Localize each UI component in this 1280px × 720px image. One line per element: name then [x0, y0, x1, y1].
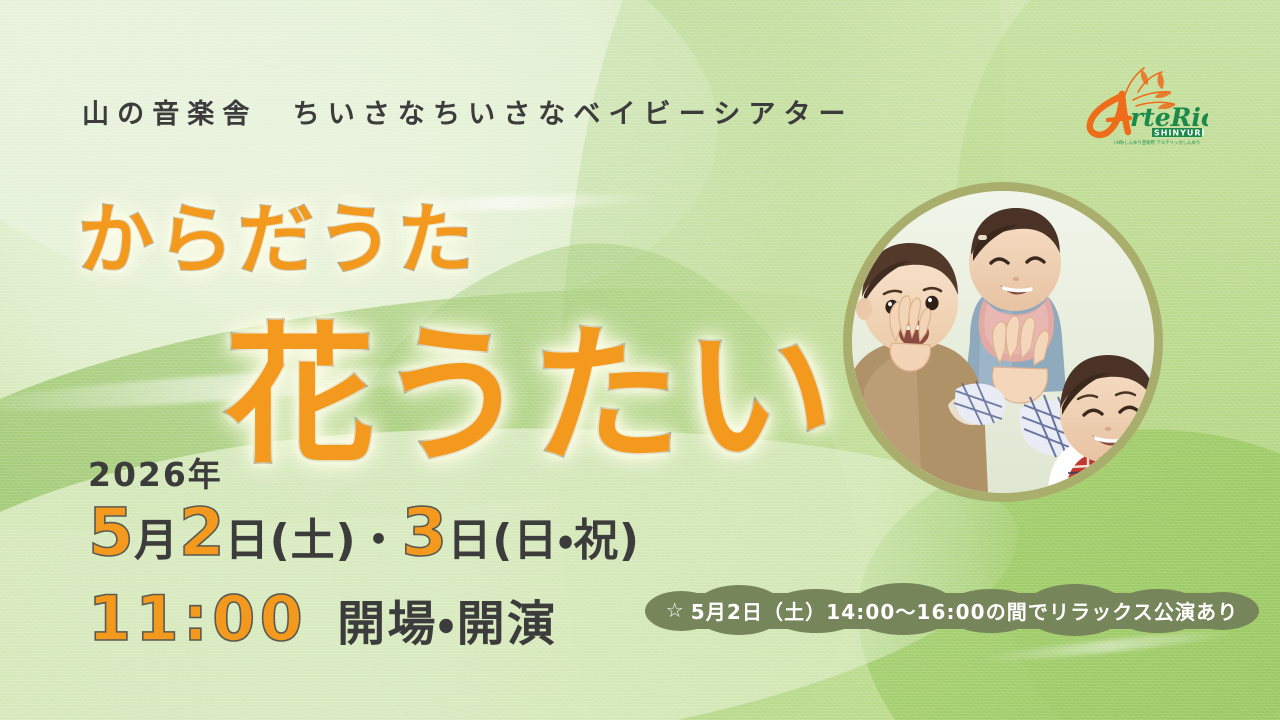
date-day2-number: 3 [401, 500, 447, 566]
date-line: 5 月 2 日(土) ・ 3 日(日・祝) [88, 500, 640, 566]
logo-subtitle: SHINYURI [1154, 129, 1206, 138]
event-series-heading: 山の音楽舎 ちいさなちいさなベイビーシアター [82, 92, 854, 131]
relax-note-body: 5月2日（土）14:00〜16:00の間でリラックス公演あり [691, 596, 1239, 625]
time-line: 11:00 開場・開演 [88, 588, 640, 650]
logo-fine-print: 川崎・しんゆり芸術祭 アルテリッカしんゆり [1114, 139, 1200, 146]
date-day1-label: 日(土) [225, 519, 357, 563]
time-label: 開場・開演 [337, 600, 557, 648]
date-month-number: 5 [88, 500, 134, 566]
schedule-block: 2026年 5 月 2 日(土) ・ 3 日(日・祝) 11:00 開場・開演 [88, 458, 640, 650]
baby-center [964, 208, 1066, 395]
relax-note-text: ☆ 5月2日（土）14:00〜16:00の間でリラックス公演あり [645, 583, 1259, 637]
babies-photo-circle [843, 182, 1163, 502]
star-icon: ☆ [666, 600, 685, 620]
arteRicca-logo[interactable]: rteRicca SHINYURI 川崎・しんゆり芸術祭 アルテリッカしんゆり [1078, 62, 1208, 150]
relax-performance-banner: ☆ 5月2日（土）14:00〜16:00の間でリラックス公演あり [645, 583, 1259, 637]
poster-canvas: 山の音楽舎 ちいさなちいさなベイビーシアター rteRicca SH [0, 0, 1280, 720]
date-day2-label: 日(日・祝) [447, 519, 639, 563]
subtitle-karadauta: からだうた [78, 178, 477, 288]
date-day1-number: 2 [179, 500, 225, 566]
time-value: 11:00 [88, 588, 307, 650]
date-separator: ・ [357, 519, 402, 563]
date-month-label: 月 [134, 519, 179, 563]
year-label: 2026年 [88, 458, 640, 491]
